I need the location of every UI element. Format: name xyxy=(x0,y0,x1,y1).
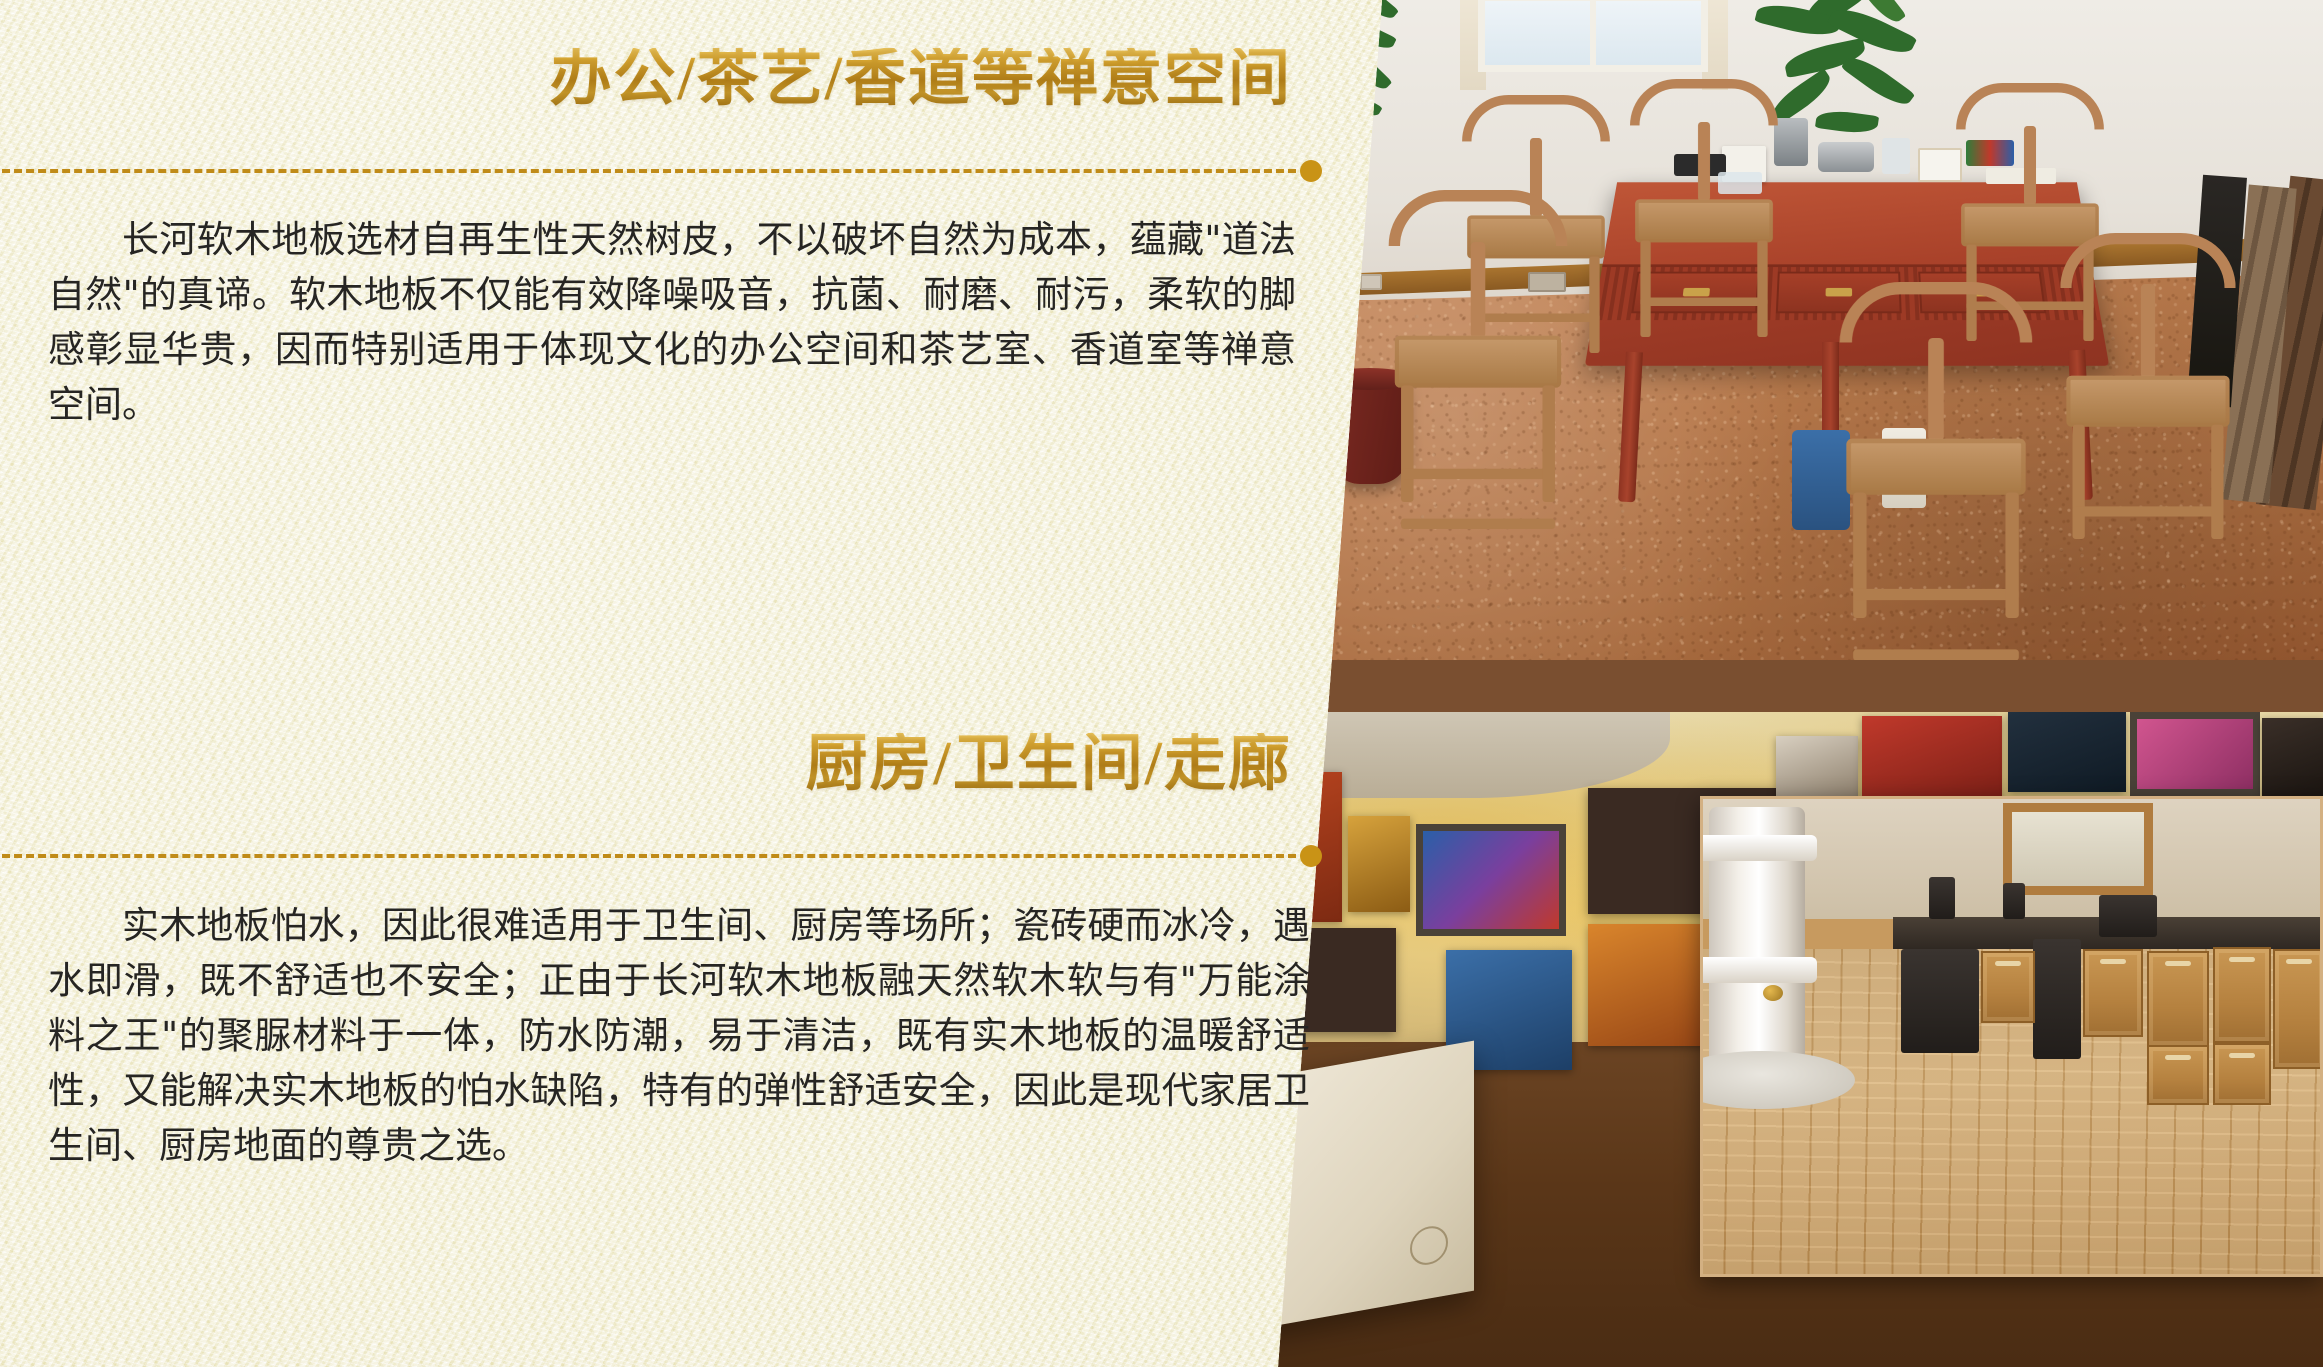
divider-dot xyxy=(1300,160,1322,182)
section-heading-office: 办公/茶艺/香道等禅意空间 xyxy=(550,48,1292,110)
horseshoe-chair xyxy=(1389,190,1568,502)
kitchen-window xyxy=(2003,803,2153,895)
coffee-machine xyxy=(1929,877,1955,919)
display-banner xyxy=(1862,716,2002,802)
portrait-photo xyxy=(1776,736,1858,798)
kitchen-appliance xyxy=(2003,883,2025,919)
wall-monitor xyxy=(2130,712,2260,796)
tea-tray xyxy=(1818,142,1874,172)
kitchen-cabinet xyxy=(2147,951,2209,1047)
horseshoe-chair xyxy=(1630,79,1778,337)
display-banner xyxy=(2262,718,2323,796)
slide-page: 办公/茶艺/香道等禅意空间 长河软木地板选材自再生性天然树皮，不以破坏自然为成本… xyxy=(0,0,2323,1367)
photo-tea-room xyxy=(1282,0,2323,660)
kitchen-cabinet xyxy=(2083,949,2143,1037)
content-area: 办公/茶艺/香道等禅意空间 长河软木地板选材自再生性天然树皮，不以破坏自然为成本… xyxy=(0,0,1330,1367)
window xyxy=(1478,0,1708,72)
refrigerator xyxy=(2033,939,2081,1059)
kettle xyxy=(1774,118,1808,166)
glass xyxy=(1882,138,1910,174)
section-divider-1 xyxy=(0,160,1322,182)
kitchen-cabinet xyxy=(2147,1045,2209,1105)
section-body-kitchen: 实木地板怕水，因此很难适用于卫生间、厨房等场所；瓷砖硬而冰冷，遇水即滑，既不舒适… xyxy=(48,898,1310,1173)
display-poster xyxy=(1348,816,1410,912)
photo-column xyxy=(1240,0,2323,1367)
section-divider-2 xyxy=(0,845,1322,867)
kitchen-cabinet xyxy=(2213,1043,2271,1105)
kitchen-cabinet xyxy=(2213,947,2271,1043)
photo-exhibition-hall xyxy=(1240,712,2323,1367)
decorative-column xyxy=(1709,807,1805,1077)
horseshoe-chair xyxy=(1840,282,2033,618)
wall-socket xyxy=(1360,274,1382,290)
microwave xyxy=(2099,895,2157,937)
kitchen-cabinet xyxy=(1981,951,2035,1023)
kitchen-cabinet xyxy=(2273,949,2323,1069)
divider-dashed-line xyxy=(0,169,1296,173)
wall-monitor xyxy=(1416,824,1566,936)
divider-dot xyxy=(1300,845,1322,867)
section-body-office: 长河软木地板选材自再生性天然树皮，不以破坏自然为成本，蕴藏"道法自然"的真谛。软… xyxy=(48,212,1296,432)
display-banner xyxy=(2008,712,2126,792)
oven xyxy=(1901,949,1979,1053)
section-heading-kitchen: 厨房/卫生间/走廊 xyxy=(806,733,1292,795)
horseshoe-chair xyxy=(2060,233,2235,539)
photo-kitchen-inset xyxy=(1700,796,2323,1277)
divider-dashed-line xyxy=(0,854,1296,858)
